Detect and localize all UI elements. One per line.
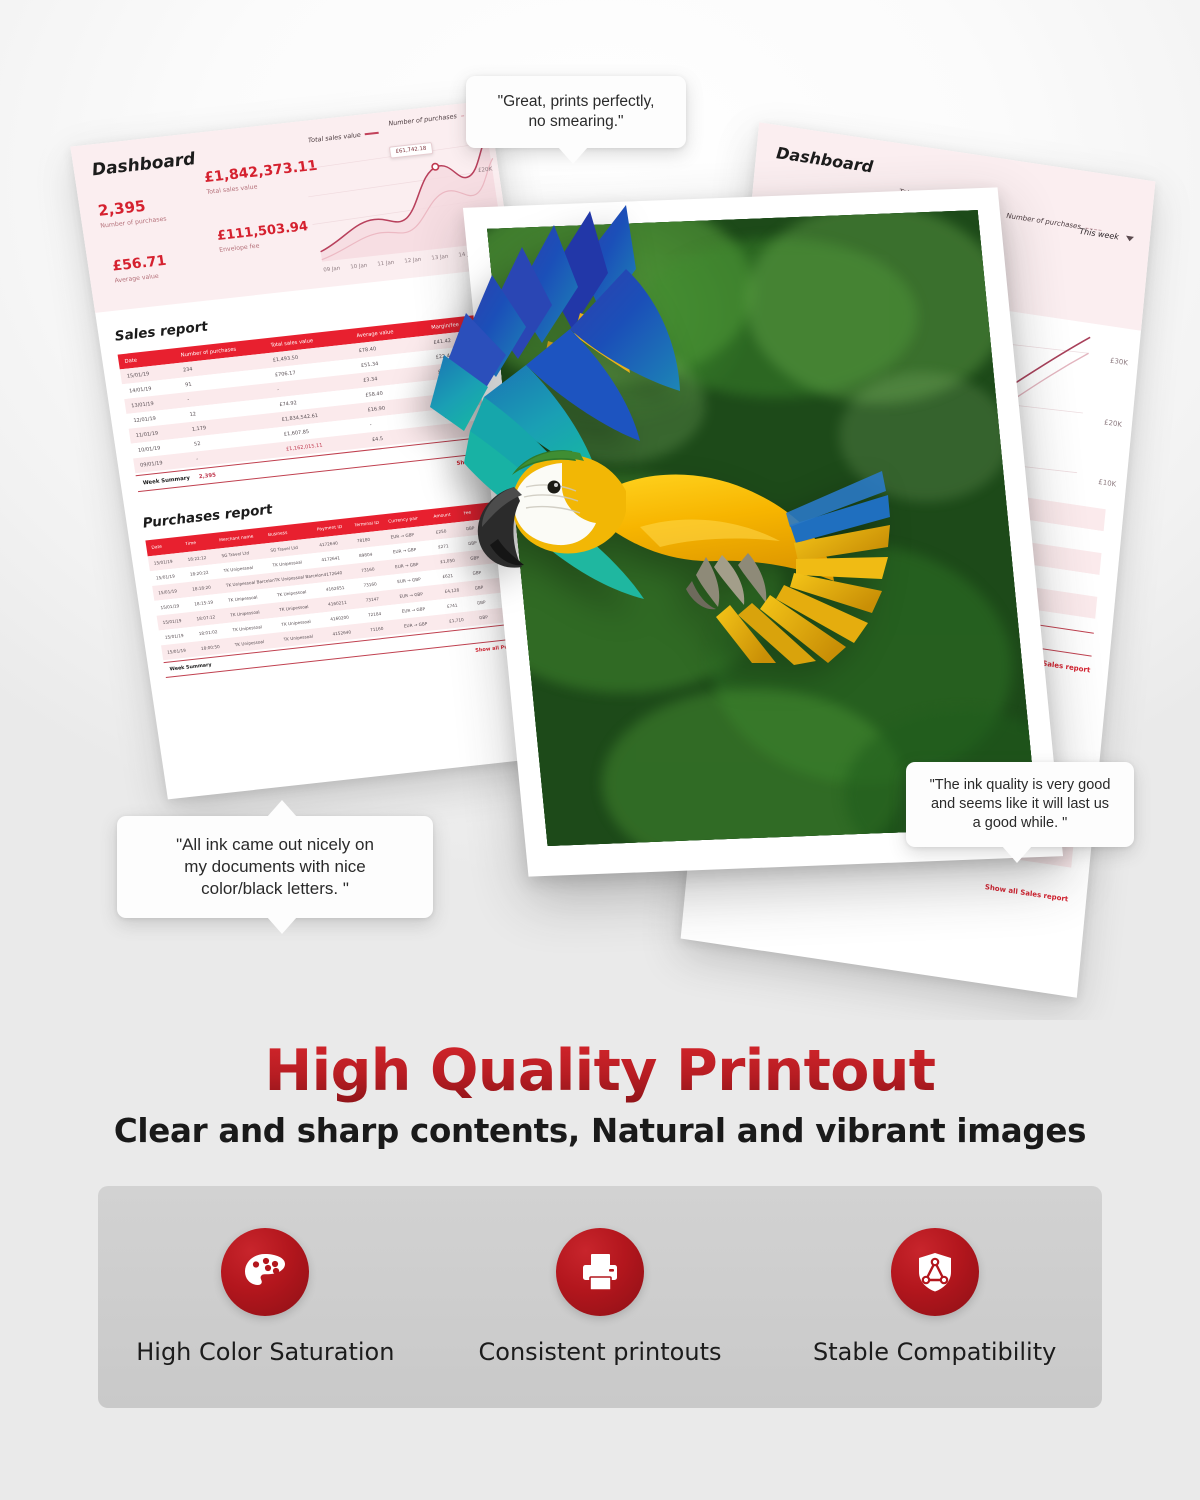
feature-high-color-saturation: High Color Saturation	[98, 1228, 433, 1366]
bubble-tail-icon	[558, 147, 588, 164]
cell: 15/01/19	[156, 572, 191, 581]
page-headline: High Quality Printout	[0, 1038, 1200, 1104]
cell: TK Unipessoal	[283, 632, 333, 642]
cell: 15/01/19	[158, 587, 193, 596]
cell: TK Unipessoal	[228, 592, 278, 602]
cell: TK Unipessoal	[223, 563, 273, 573]
column-header[interactable]: Merchant name	[219, 533, 269, 543]
x-tick: 13 Jan	[431, 254, 449, 262]
column-header[interactable]: Fee	[463, 508, 490, 516]
feature-consistent-printouts: Consistent printouts	[433, 1228, 768, 1366]
cell: TK Unipessoal	[277, 587, 327, 597]
cell: £4,128	[444, 586, 475, 594]
cell: EUR → GBP	[404, 619, 450, 629]
cell: 15/01/19	[167, 646, 202, 655]
column-header[interactable]: Currency pair	[388, 514, 434, 524]
legend-swatch-solid	[365, 132, 379, 135]
bubble-line: color/black letters. "	[133, 878, 417, 900]
cell: SG Travel Ltd	[270, 542, 320, 552]
cell: TK Unipessoal	[279, 602, 329, 612]
photo-image-jungle	[487, 210, 1038, 846]
x-tick: 10 Jan	[350, 263, 368, 271]
summary-value: 2,395	[198, 464, 289, 480]
feature-stable-compatibility: Stable Compatibility	[767, 1228, 1102, 1366]
date-range-dropdown[interactable]: This week	[1079, 227, 1134, 244]
cell: TK Unipessoal Barcelona Spain	[274, 572, 324, 582]
cell: 73147	[365, 594, 400, 603]
bubble-tail-icon	[267, 800, 297, 817]
cell: 71160	[370, 624, 405, 633]
cell: 4162651	[326, 583, 364, 592]
feature-panel: High Color Saturation Consistent printou…	[98, 1186, 1102, 1408]
cell: £271	[438, 541, 469, 549]
bubble-line: and seems like it will last us	[918, 795, 1122, 814]
summary-label: Week Summary	[169, 659, 245, 672]
stat-envelope-fee: £111,503.94 Envelope fee	[216, 219, 311, 254]
cell: TK Unipessoal Barcelona Spain	[226, 578, 276, 588]
cell: 4160200	[330, 613, 368, 622]
x-tick: 11 Jan	[377, 260, 395, 268]
testimonial-bubble-left: "All ink came out nicely on my documents…	[117, 816, 433, 918]
cell: GBP	[465, 523, 492, 531]
bubble-line: "The ink quality is very good	[918, 776, 1122, 795]
cell: 18:22:12	[187, 553, 222, 562]
feature-label: Stable Compatibility	[813, 1338, 1056, 1366]
cell: 18:20:22	[190, 568, 225, 577]
bubble-line: no smearing."	[480, 112, 672, 132]
y-tick: £20K	[1104, 418, 1123, 429]
cell: 18:15:19	[194, 598, 229, 607]
column-header[interactable]: Date	[151, 542, 186, 551]
feature-label: Consistent printouts	[479, 1338, 722, 1366]
chevron-down-icon	[1126, 236, 1134, 242]
cell: GBP	[468, 538, 495, 546]
cell: 15/01/19	[160, 602, 195, 611]
cell: GBP	[477, 598, 504, 606]
cell: 18:00:50	[201, 642, 236, 651]
cell: £4.5	[372, 428, 448, 442]
column-header[interactable]: Business	[268, 527, 318, 537]
cell: 4172640	[319, 538, 357, 547]
cell: 18:18:20	[192, 583, 227, 592]
cell: 89804	[359, 549, 394, 558]
cell: EUR → GBP	[390, 530, 436, 540]
bubble-line: my documents with nice	[133, 856, 417, 878]
cell: EUR → GBP	[401, 604, 447, 614]
cell: 18:01:02	[198, 627, 233, 636]
cell: EUR → GBP	[399, 589, 445, 599]
page-subheadline: Clear and sharp contents, Natural and vi…	[0, 1112, 1200, 1150]
cell: 78180	[356, 535, 391, 544]
cell: TK Unipessoal	[232, 622, 282, 632]
cell: TK Unipessoal	[234, 637, 284, 647]
product-marketing-page: Dashboard 2,395 Number of purchases £1,8…	[0, 0, 1200, 1500]
cell: GBP	[474, 583, 501, 591]
cell: 4152640	[332, 627, 370, 636]
cell: 15/01/19	[165, 631, 200, 640]
hero-scene: Dashboard 2,395 Number of purchases £1,8…	[0, 0, 1200, 1020]
stat-value: £56.71	[111, 253, 167, 275]
chart-data-point-marker	[432, 163, 439, 170]
stat-average-value: £56.71 Average value	[111, 253, 169, 285]
cell: EUR → GBP	[395, 559, 441, 569]
cell: 4160211	[328, 598, 366, 607]
cell: £621	[442, 571, 473, 579]
stat-purchases: 2,395 Number of purchases	[97, 195, 167, 230]
cell: 4172641	[321, 553, 359, 562]
shield-check-icon	[891, 1228, 979, 1316]
testimonial-bubble-top: "Great, prints perfectly, no smearing."	[466, 76, 686, 148]
cell: TK Unipessoal	[281, 617, 331, 627]
feature-label: High Color Saturation	[136, 1338, 394, 1366]
x-tick: 12 Jan	[404, 257, 422, 265]
legend-label: Number of purchases	[1006, 212, 1081, 231]
column-header[interactable]: Amount	[433, 511, 464, 519]
cell: EUR → GBP	[393, 544, 439, 554]
x-tick: 09 Jan	[323, 266, 341, 274]
testimonial-bubble-right: "The ink quality is very good and seems …	[906, 762, 1134, 847]
cell: GBP	[472, 568, 499, 576]
cell: 09/01/19	[140, 456, 197, 468]
cell: EUR → GBP	[397, 574, 443, 584]
cell: 4172640	[323, 568, 361, 577]
cell: TK Unipessoal	[230, 607, 280, 617]
show-all-sales-link-b2[interactable]: Show all Sales report	[919, 873, 1068, 903]
cell: £1,710	[449, 615, 480, 623]
cell: 72184	[368, 609, 403, 618]
cell: 15/01/19	[153, 557, 188, 566]
cell: 18:07:12	[196, 613, 231, 622]
cell: GBP	[470, 553, 497, 561]
cell: TK Unipessoal	[272, 557, 322, 567]
palette-icon	[221, 1228, 309, 1316]
y-tick: £30K	[1110, 357, 1129, 368]
printer-icon	[556, 1228, 644, 1316]
bubble-line: "All ink came out nicely on	[133, 834, 417, 856]
bubble-tail-icon	[267, 917, 297, 934]
date-range-label: This week	[1079, 227, 1119, 242]
cell: £250	[435, 526, 466, 534]
bubble-line: "Great, prints perfectly,	[480, 92, 672, 112]
bubble-line: a good while. "	[918, 814, 1122, 833]
summary-label: Week Summary	[142, 474, 199, 486]
column-header[interactable]: Time	[185, 538, 220, 547]
column-header[interactable]: Payment ID	[317, 523, 355, 532]
cell: 15/01/19	[162, 616, 197, 625]
cell: 73160	[363, 579, 398, 588]
cell: £741	[446, 600, 477, 608]
cell: SG Travel Ltd	[221, 548, 271, 558]
cell: 73160	[361, 564, 396, 573]
bubble-tail-icon	[1002, 846, 1032, 863]
column-header[interactable]: Terminal ID	[354, 519, 389, 528]
cell: £1,050	[440, 556, 471, 564]
